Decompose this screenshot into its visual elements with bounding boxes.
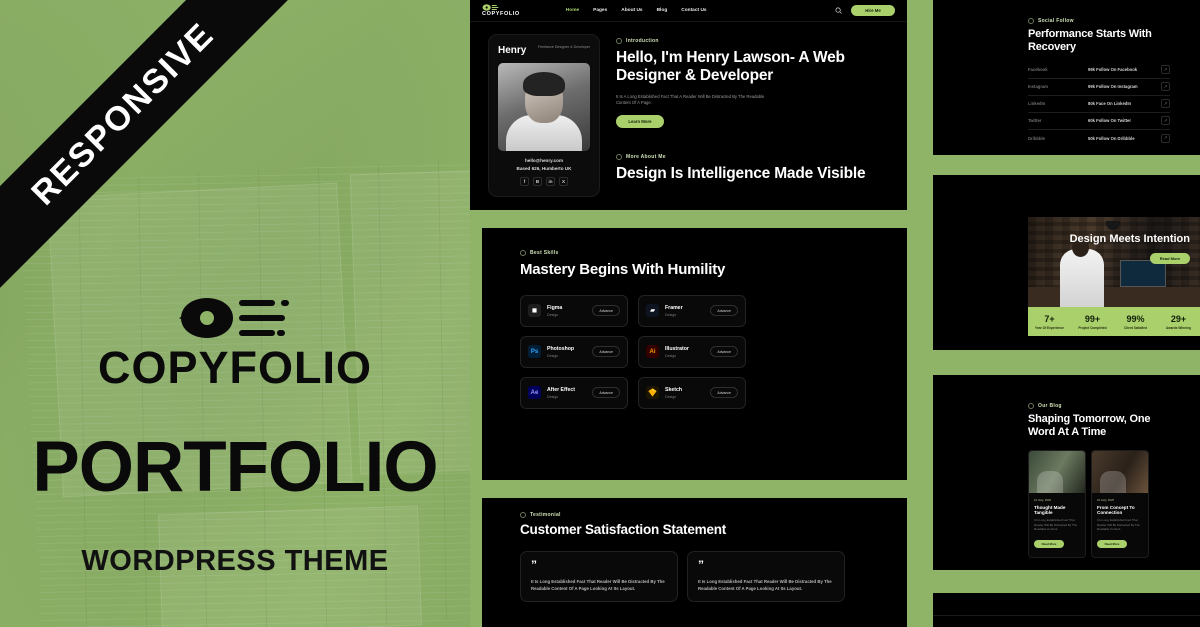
- eyebrow-dot-icon: [520, 250, 526, 256]
- mockup-testimonial: Testimonial Customer Satisfaction Statem…: [482, 498, 907, 627]
- banner-cta-button[interactable]: Read More: [1150, 253, 1190, 264]
- stat-value: 7+: [1028, 314, 1071, 324]
- pen-nib-icon: [482, 4, 500, 11]
- divider: [933, 615, 1200, 616]
- blog-thumbnail: [1092, 451, 1148, 493]
- skill-card[interactable]: Ps Photoshop Design Advance: [520, 336, 628, 368]
- blog-heading: Shaping Tomorrow, One Word At A Time: [1028, 413, 1172, 439]
- social-row[interactable]: Dribbble 50k Follow On Dribbble ↗: [1028, 130, 1170, 147]
- skill-name: Framer: [665, 305, 704, 311]
- skills-eyebrow-label: Best Skills: [530, 250, 559, 256]
- pen-nib-icon: [177, 296, 293, 340]
- skill-name: Illustrator: [665, 346, 704, 352]
- social-cta: 60k Follow On Twitter: [1088, 118, 1161, 123]
- blog-date: 24 July, 2025: [1097, 498, 1143, 502]
- stats-bar: 7+ Year Of Experience 99+ Project Comple…: [1028, 307, 1200, 336]
- skill-level-badge: Advance: [710, 305, 738, 316]
- social-heading: Performance Starts With Recovery: [1028, 28, 1170, 54]
- profile-name: Henry: [498, 45, 526, 56]
- stat-label: Year Of Experience: [1028, 326, 1071, 330]
- social-cta: 80k Face On LinkedIn: [1088, 101, 1161, 106]
- mockup-banner: Design Meets Intention Read More 7+ Year…: [933, 175, 1200, 350]
- desk-shape: [1028, 287, 1200, 307]
- mockup-blog: Our Blog Shaping Tomorrow, One Word At A…: [933, 375, 1200, 570]
- skills-heading: Mastery Begins With Humility: [520, 261, 907, 279]
- blog-grid: 21 July, 2025 Thought Made Tangible It I…: [1028, 450, 1172, 558]
- skill-name: Photoshop: [547, 346, 586, 352]
- linkedin-icon[interactable]: in: [546, 177, 555, 186]
- hero-eyebrow: Introduction: [616, 38, 893, 44]
- social-cta: 99k Follow On Facebook: [1088, 67, 1161, 72]
- stat-item: 99+ Project Completed: [1071, 314, 1114, 330]
- hero-cta-button[interactable]: Learn More: [616, 115, 664, 128]
- navbar-logo[interactable]: COPYFOLIO: [482, 4, 520, 17]
- profile-role: Freelance Designer & Developer: [538, 45, 590, 50]
- eyebrow-dot-icon: [1028, 18, 1034, 24]
- social-eyebrow-label: Social Follow: [1038, 18, 1074, 24]
- promo-panel: RESPONSIVE COPYFOLIO PORTFOLIO WORDPRESS…: [0, 0, 470, 627]
- nav-link-contact[interactable]: Contact Us: [681, 8, 706, 13]
- illustrator-icon: Ai: [646, 345, 659, 358]
- after-effects-icon: Ae: [528, 386, 541, 399]
- photoshop-icon: Ps: [528, 345, 541, 358]
- eyebrow-dot-icon: [616, 38, 622, 44]
- eyebrow-dot-icon: [616, 154, 622, 160]
- nav-link-about[interactable]: About Us: [621, 8, 642, 13]
- skill-level-badge: Advance: [710, 387, 738, 398]
- skills-grid: ◼ Figma Design Advance ▰ Framer Design A…: [520, 295, 750, 409]
- testimonial-eyebrow: Testimonial: [520, 512, 907, 518]
- blog-excerpt: It Is Long Established Fact That Reader …: [1097, 518, 1143, 532]
- eyebrow-dot-icon: [520, 512, 526, 518]
- blog-title[interactable]: Thought Made Tangible: [1034, 505, 1080, 515]
- testimonial-grid: ” It Is Long Established Fact That Reade…: [520, 551, 907, 603]
- profile-email[interactable]: hello@henry.com: [498, 158, 590, 163]
- stat-value: 99%: [1114, 314, 1157, 324]
- blog-date: 21 July, 2025: [1034, 498, 1080, 502]
- skill-name: After Effect: [547, 387, 586, 393]
- stat-value: 99+: [1071, 314, 1114, 324]
- social-network: Dribbble: [1028, 136, 1088, 141]
- stat-item: 29+ Awards Winning: [1157, 314, 1200, 330]
- social-cta: 99k Follow On Instagram: [1088, 84, 1161, 89]
- search-icon[interactable]: [835, 7, 842, 14]
- skill-card[interactable]: Ae After Effect Design Advance: [520, 377, 628, 409]
- skills-eyebrow: Best Skills: [520, 250, 907, 256]
- navbar-cta-button[interactable]: Hire Me: [851, 5, 895, 16]
- skill-category: Design: [547, 354, 586, 358]
- blog-excerpt: It Is Long Established Fact That Reader …: [1034, 518, 1080, 532]
- skill-level-badge: Advance: [592, 346, 620, 357]
- skill-card[interactable]: ▰ Framer Design Advance: [638, 295, 746, 327]
- testimonial-heading: Customer Satisfaction Statement: [520, 522, 907, 538]
- brand-name: COPYFOLIO: [0, 345, 470, 390]
- hero-paragraph: It Is A Long Established Fact That A Rea…: [616, 94, 766, 107]
- mockup-social-follow: Social Follow Performance Starts With Re…: [933, 0, 1200, 155]
- skill-category: Design: [547, 313, 586, 317]
- social-network: LinkedIn: [1028, 101, 1088, 106]
- skill-card[interactable]: ◼ Figma Design Advance: [520, 295, 628, 327]
- skill-category: Design: [665, 313, 704, 317]
- blog-eyebrow-label: Our Blog: [1038, 403, 1062, 409]
- framer-icon: ▰: [646, 304, 659, 317]
- blog-card[interactable]: 21 July, 2025 Thought Made Tangible It I…: [1028, 450, 1086, 558]
- social-network: Instagram: [1028, 84, 1088, 89]
- social-row[interactable]: Instagram 99k Follow On Instagram ↗: [1028, 79, 1170, 96]
- nav-link-blog[interactable]: Blog: [657, 8, 668, 13]
- social-row[interactable]: Facebook 99k Follow On Facebook ↗: [1028, 62, 1170, 79]
- skill-category: Design: [547, 395, 586, 399]
- blog-read-more-button[interactable]: Read More: [1034, 540, 1064, 548]
- profile-location: Based 626, Humberto UK: [498, 166, 590, 171]
- skill-name: Sketch: [665, 387, 704, 393]
- eyebrow-dot-icon: [1028, 403, 1034, 409]
- about-eyebrow-label: More About Me: [626, 154, 666, 160]
- stat-label: Project Completed: [1071, 326, 1114, 330]
- quote-icon: ”: [531, 561, 667, 569]
- skill-level-badge: Advance: [710, 346, 738, 357]
- testimonial-text: It Is Long Established Fact That Reader …: [531, 578, 667, 592]
- social-eyebrow: Social Follow: [1028, 18, 1170, 24]
- social-rows: Facebook 99k Follow On Facebook ↗ Instag…: [1028, 62, 1170, 147]
- skill-level-badge: Advance: [592, 305, 620, 316]
- arrow-up-right-icon[interactable]: ↗: [1161, 99, 1170, 108]
- social-cta: 50k Follow On Dribbble: [1088, 136, 1161, 141]
- nav-link-home[interactable]: Home: [566, 8, 579, 13]
- twitter-x-icon[interactable]: X: [559, 177, 568, 186]
- banner-heading: Design Meets Intention: [1070, 233, 1190, 246]
- navbar-logo-text: COPYFOLIO: [482, 11, 520, 17]
- skill-card[interactable]: Ai Illustrator Design Advance: [638, 336, 746, 368]
- mockup-hero: COPYFOLIO Home Pages About Us Blog Conta…: [470, 0, 907, 210]
- navbar-links: Home Pages About Us Blog Contact Us: [566, 8, 707, 13]
- profile-social-links: f B in X: [498, 177, 590, 186]
- social-row[interactable]: Twitter 60k Follow On Twitter ↗: [1028, 113, 1170, 130]
- promo-subtitle: WORDPRESS THEME: [0, 545, 470, 578]
- site-navbar: COPYFOLIO Home Pages About Us Blog Conta…: [470, 0, 907, 22]
- hero-eyebrow-label: Introduction: [626, 38, 659, 44]
- blog-read-more-button[interactable]: Read More: [1097, 540, 1127, 548]
- profile-photo: [498, 63, 590, 151]
- banner-photo: Design Meets Intention Read More: [1028, 217, 1200, 307]
- stat-value: 29+: [1157, 314, 1200, 324]
- skill-level-badge: Advance: [592, 387, 620, 398]
- stat-label: Client Satisfied: [1114, 326, 1157, 330]
- social-network: Twitter: [1028, 118, 1088, 123]
- arrow-up-right-icon[interactable]: ↗: [1161, 65, 1170, 74]
- blog-card[interactable]: 24 July, 2025 From Concept To Connection…: [1091, 450, 1149, 558]
- social-row[interactable]: LinkedIn 80k Face On LinkedIn ↗: [1028, 96, 1170, 113]
- testimonial-card: ” It Is Long Established Fact That Reade…: [687, 551, 845, 603]
- hero-heading: Hello, I'm Henry Lawson- A Web Designer …: [616, 49, 893, 86]
- profile-card: Henry Freelance Designer & Developer hel…: [488, 34, 600, 197]
- nav-link-pages[interactable]: Pages: [593, 8, 607, 13]
- skill-category: Design: [665, 354, 704, 358]
- skill-name: Figma: [547, 305, 586, 311]
- arrow-up-right-icon[interactable]: ↗: [1161, 116, 1170, 125]
- brand-lockup: COPYFOLIO: [0, 296, 470, 390]
- about-heading: Design Is Intelligence Made Visible: [616, 165, 893, 183]
- arrow-up-right-icon[interactable]: ↗: [1161, 134, 1170, 143]
- testimonial-eyebrow-label: Testimonial: [530, 512, 561, 518]
- social-network: Facebook: [1028, 67, 1088, 72]
- promo-title: PORTFOLIO: [0, 432, 470, 503]
- testimonial-text: It Is Long Established Fact That Reader …: [698, 578, 834, 592]
- facebook-icon[interactable]: f: [520, 177, 529, 186]
- skill-card[interactable]: Sketch Design Advance: [638, 377, 746, 409]
- quote-icon: ”: [698, 561, 834, 569]
- mockup-skills: Best Skills Mastery Begins With Humility…: [482, 228, 907, 480]
- stat-label: Awards Winning: [1157, 326, 1200, 330]
- testimonial-card: ” It Is Long Established Fact That Reade…: [520, 551, 678, 603]
- skill-category: Design: [665, 395, 704, 399]
- stat-item: 7+ Year Of Experience: [1028, 314, 1071, 330]
- mockup-footer-sliver: [933, 593, 1200, 627]
- blog-eyebrow: Our Blog: [1028, 403, 1172, 409]
- behance-icon[interactable]: B: [533, 177, 542, 186]
- arrow-up-right-icon[interactable]: ↗: [1161, 82, 1170, 91]
- stat-item: 99% Client Satisfied: [1114, 314, 1157, 330]
- blog-title[interactable]: From Concept To Connection: [1097, 505, 1143, 515]
- sketch-icon: [646, 386, 659, 399]
- about-eyebrow: More About Me: [616, 154, 893, 160]
- blog-thumbnail: [1029, 451, 1085, 493]
- figma-icon: ◼: [528, 304, 541, 317]
